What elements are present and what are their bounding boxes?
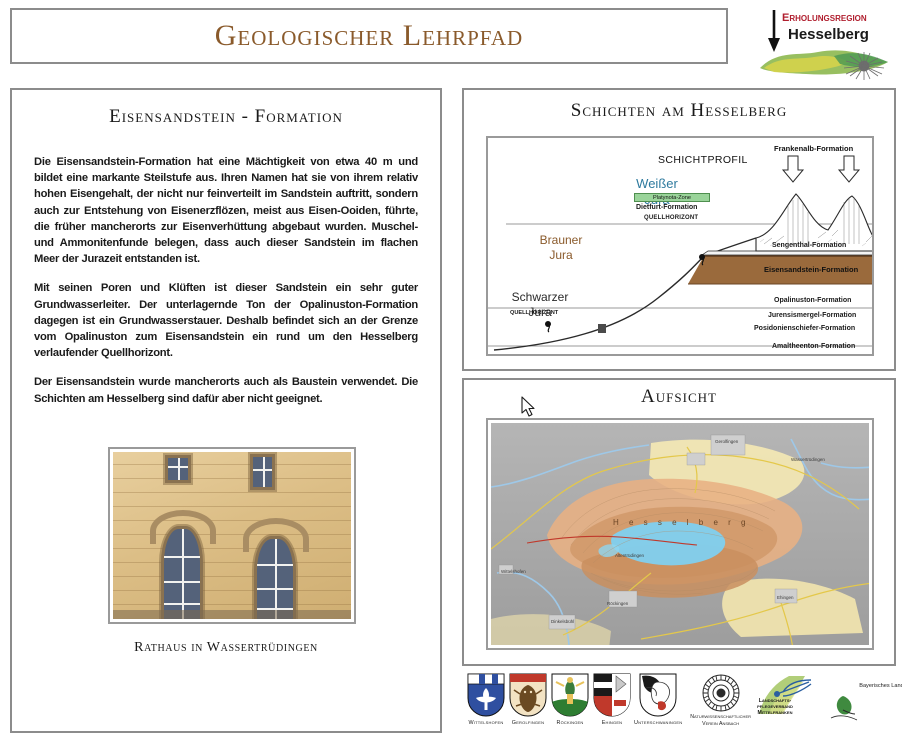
left-panel-body: Die Eisensandstein-Formation hat eine Mä… xyxy=(34,154,418,407)
map-label-altentruedingen: Altentrüdingen xyxy=(615,553,644,558)
crest-wittelshofen-shield xyxy=(466,672,506,718)
org-label-verein-line1: Naturwissenschaftlicher xyxy=(690,714,751,721)
aufsicht-map-frame: H e s s e l b e r g Wittelshofen Röcking… xyxy=(486,418,874,650)
map-label-dinkelsbuehl: Dinkelsbühl xyxy=(551,619,574,624)
paragraph-1: Die Eisensandstein-Formation hat eine Mä… xyxy=(34,154,418,267)
label-quellhorizont-left: QUELLHORIZONT xyxy=(510,310,558,316)
schichtprofil-heading: SCHICHTPROFIL xyxy=(658,154,748,166)
label-frankenalb-formation: Frankenalb-Formation xyxy=(774,144,853,153)
paragraph-2: Mit seinen Poren und Klüften ist dieser … xyxy=(34,280,418,361)
crest-unterschwaningen: Unterschwaningen xyxy=(634,672,682,727)
crest-roeckingen-shield xyxy=(550,672,590,718)
naturwissenschaftlicher-verein-ansbach-logo: Naturwissenschaftlicher Verein Ansbach xyxy=(690,672,751,728)
page-title: Geologischer Lehrpfad xyxy=(215,19,523,53)
map-label-ehingen: Ehingen xyxy=(777,595,794,600)
map-label-wassertruedingen: Wassertrüdingen xyxy=(791,457,825,462)
crest-label-ehingen: Ehingen xyxy=(592,720,632,727)
crest-unterschwaningen-shield xyxy=(638,672,678,718)
map-label-hesselberg: H e s s e l b e r g xyxy=(613,518,749,527)
label-posidonienschiefer-formation: Posidonienschiefer-Formation xyxy=(754,325,855,332)
ammonite-icon xyxy=(699,672,743,714)
left-panel-title: Eisensandstein - Formation xyxy=(12,106,440,128)
mouse-cursor xyxy=(521,396,537,418)
label-platynota-zone: Platynota-Zone xyxy=(634,193,710,202)
info-board-page: Geologischer Lehrpfad Erholungsregion He… xyxy=(0,0,902,742)
crest-label-gerolfingen: Gerolfingen xyxy=(508,720,548,727)
landschaftspflegeverband-mittelfranken-logo: Landschafts- pflegeverband Mittelfranken xyxy=(753,672,815,716)
label-quellhorizont-right: QUELLHORIZONT xyxy=(644,215,698,221)
label-amaltheenton-formation: Amaltheenton-Formation xyxy=(772,343,855,350)
header-title-box: Geologischer Lehrpfad xyxy=(10,8,728,64)
cursor-arrow-icon xyxy=(521,396,537,418)
erholungsregion-hesselberg-logo: Erholungsregion Hesselberg xyxy=(752,6,896,80)
left-panel: Eisensandstein - Formation Die Eisensand… xyxy=(10,88,442,733)
sandstone-facade-photo xyxy=(113,452,351,619)
map-label-roeckingen: Röckingen xyxy=(607,601,628,606)
crest-wittelshofen: Wittelshofen xyxy=(466,672,506,727)
lfu-leaf-icon xyxy=(829,694,859,724)
paragraph-3: Der Eisensandstein wurde mancherorts auc… xyxy=(34,374,418,406)
org-label-verein-line2: Verein Ansbach xyxy=(690,721,751,728)
crest-ehingen: Ehingen xyxy=(592,672,632,727)
map-label-gerolfingen: Gerolfingen xyxy=(715,439,738,444)
rathaus-photo-frame xyxy=(108,447,356,624)
schichten-panel: Schichten am Hesselberg xyxy=(462,88,896,371)
schichtprofil-diagram: SCHICHTPROFIL Weißer Jura Brauner Jura S… xyxy=(486,136,874,356)
label-eisensandstein-formation: Eisensandstein-Formation xyxy=(764,265,858,274)
photo-caption: Rathaus in Wassertrüdingen xyxy=(12,640,440,656)
aufsicht-panel: Aufsicht xyxy=(462,378,896,666)
label-opalinuston-formation: Opalinuston-Formation xyxy=(774,297,851,304)
brand-line-2: Hesselberg xyxy=(788,26,869,43)
crest-label-unterschwaningen: Unterschwaningen xyxy=(634,720,682,727)
brand-line-1: Erholungsregion xyxy=(782,12,867,24)
geological-map-hesselberg: H e s s e l b e r g Wittelshofen Röcking… xyxy=(491,423,869,645)
label-jurensismergel-formation: Jurensismergel-Formation xyxy=(768,312,856,319)
map-label-wittelshofen: Wittelshofen xyxy=(501,569,526,574)
crest-gerolfingen: Gerolfingen xyxy=(508,672,548,727)
schichten-panel-title: Schichten am Hesselberg xyxy=(464,100,894,122)
org-label-lpv-line3: Mittelfranken xyxy=(753,710,797,717)
crest-label-roeckingen: Röckingen xyxy=(550,720,590,727)
label-sengenthal-formation: Sengenthal-Formation xyxy=(772,242,846,249)
label-brauner-jura: Brauner Jura xyxy=(518,233,604,263)
label-dietfurt-formation: Dietfurt-Formation xyxy=(636,204,697,211)
crest-ehingen-shield xyxy=(592,672,632,718)
partner-logo-strip: Wittelshofen Gerolfingen xyxy=(462,672,896,740)
crest-gerolfingen-shield xyxy=(508,672,548,718)
crest-roeckingen: Röckingen xyxy=(550,672,590,727)
crest-label-wittelshofen: Wittelshofen xyxy=(466,720,506,727)
lfu-label-line1: Bayerisches Landesamt für xyxy=(817,682,902,690)
